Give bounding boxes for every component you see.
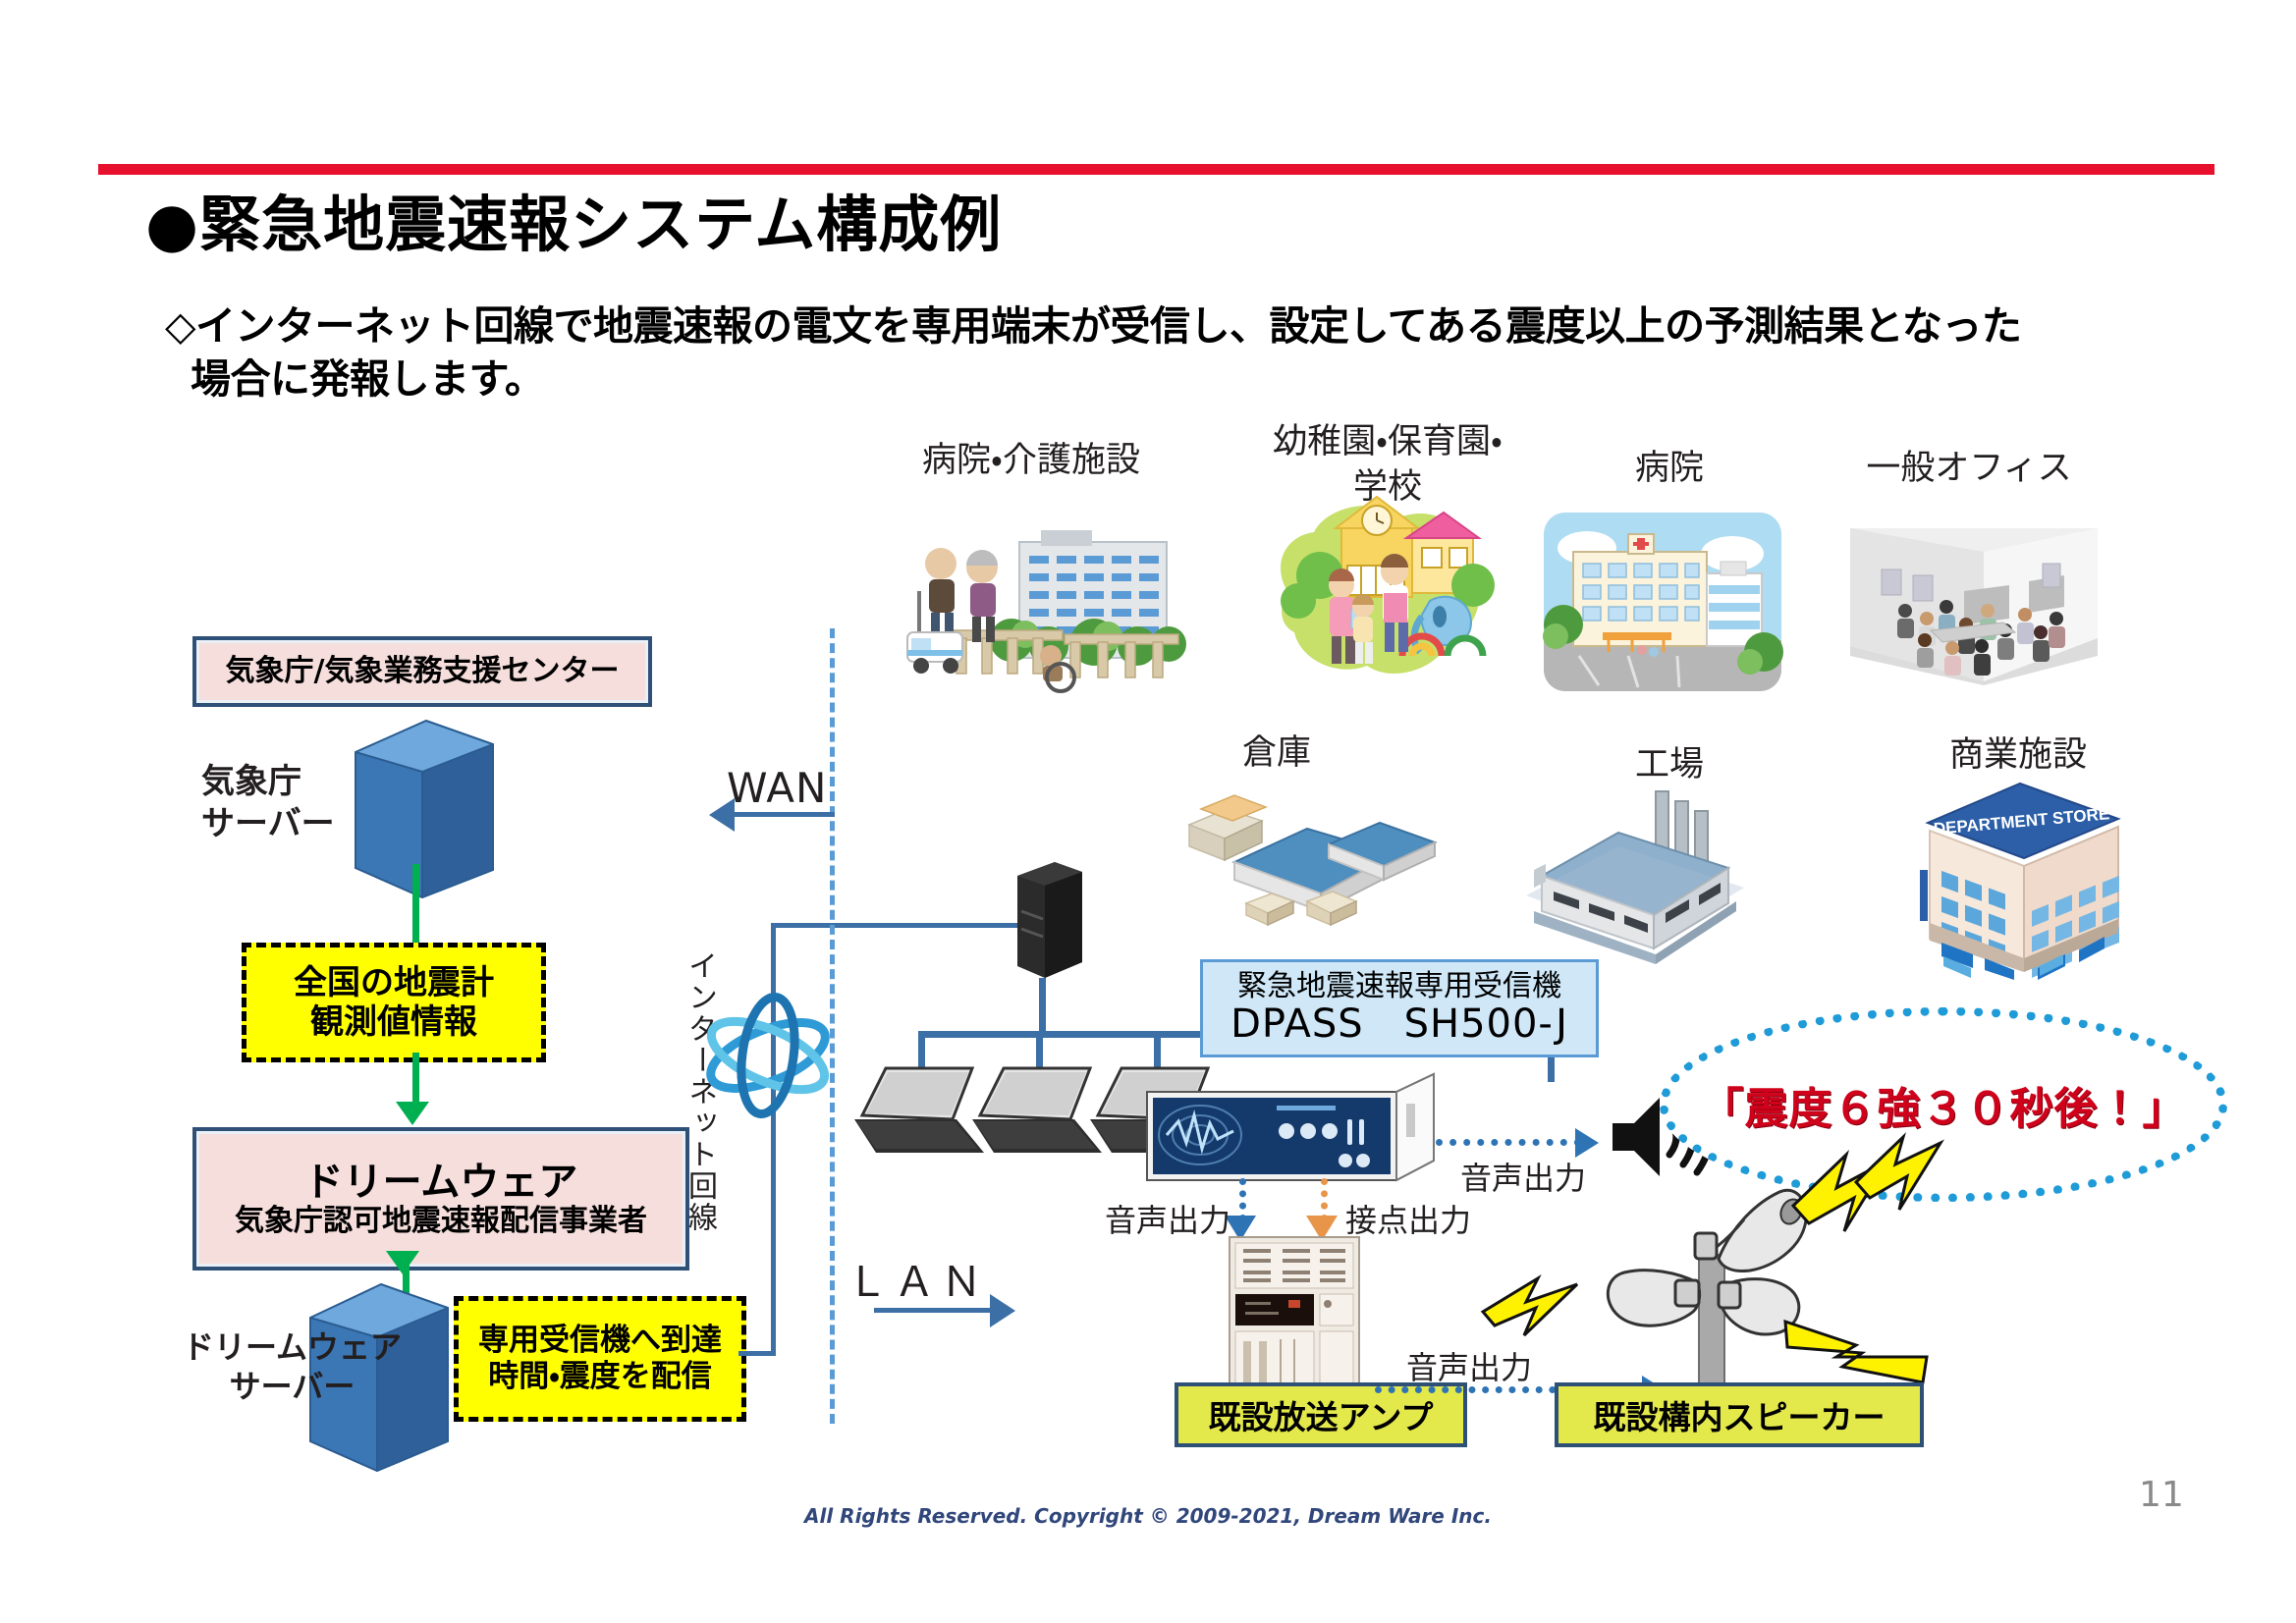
lightning-bolt-icon-2 [1479,1269,1597,1347]
page-subtitle: ◇インターネット回線で地震速報の電文を専用端末が受信し、設定してある震度以上の予… [165,299,2159,406]
network-switch-icon [1011,860,1088,980]
seismometer-info-line2: 観測値情報 [310,1002,477,1042]
jma-center-box-label: 気象庁/気象業務支援センター [226,655,620,688]
lan-riser-vertical [771,923,776,1355]
facility-label-factory: 工場 [1635,736,1704,786]
department-store-icon: DEPARTMENT STORE [1890,776,2146,982]
seismometer-info-box: 全国の地震計 観測値情報 [242,943,546,1062]
lightning-bolt-icon-3 [1779,1306,1946,1394]
facility-label-warehouse: 倉庫 [1242,725,1311,775]
lan-top-horizontal [771,923,1036,928]
existing-speaker-label: 既設構内スピーカー [1594,1391,1886,1438]
dreamware-provider-box: ドリームウェア 気象庁認可地震速報配信事業者 [192,1127,689,1271]
green-connector-2 [412,1053,419,1108]
switch-downlink [1039,978,1046,1033]
dreamware-provider-line1: ドリームウェア [304,1161,578,1205]
subtitle-line-2: 場合に発報します。 [165,352,2159,406]
delivery-info-line2: 時間・震度を配信 [488,1359,712,1395]
jma-server-label-line1: 気象庁 [201,761,335,803]
wan-label: WAN [727,764,827,812]
audio-output-bottom-label: 音声出力 [1406,1343,1532,1388]
facility-label-care-facility: 病院・介護施設 [922,432,1140,482]
care-facility-icon [902,522,1196,689]
header-accent-rule [98,164,2214,175]
jma-server-label-line2: サーバー [201,803,335,845]
audio-output-left-label: 音声出力 [1105,1196,1230,1241]
page-title: ●緊急地震速報システム構成例 [145,194,1002,255]
facility-label-hospital: 病院 [1635,440,1704,490]
jma-server-cube-shape [346,713,503,899]
warehouse-icon [1183,785,1439,933]
kindergarten-icon [1265,491,1501,697]
lan-arrow-head [990,1294,1015,1327]
page-number: 11 [2139,1475,2184,1515]
wan-arrow-line [732,812,835,817]
dpass-receiver-line2: DPASS SH500-J [1230,1002,1568,1047]
green-arrowhead-1 [396,1102,429,1125]
delivery-info-line1: 専用受信機へ到達 [478,1323,722,1359]
hospital-icon [1540,509,1785,695]
slide-canvas: ●緊急地震速報システム構成例 ◇インターネット回線で地震速報の電文を専用端末が受… [0,0,2296,1623]
wan-arrow-head [709,798,735,832]
facility-label-office: 一般オフィス [1866,440,2071,490]
dpass-receiver-line1: 緊急地震速報専用受信機 [1237,970,1561,1003]
lightning-bolt-icon-4 [1846,1129,1954,1217]
existing-speaker-label-box: 既設構内スピーカー [1555,1382,1924,1447]
dreamware-provider-line2: 気象庁認可地震速報配信事業者 [235,1205,647,1238]
dreamware-server-label: ドリームウェア サーバー [183,1327,402,1406]
office-icon [1836,509,2111,685]
alert-bubble-text: 「震度６強３０秒後！」 [1701,1073,2187,1136]
facility-label-kindergarten-line1: 幼稚園・保育園・ [1273,420,1503,465]
seismometer-info-line1: 全国の地震計 [294,963,494,1002]
internet-atom-icon [699,992,837,1119]
existing-amplifier-label: 既設放送アンプ [1209,1391,1434,1438]
jma-server-label: 気象庁 サーバー [201,761,335,844]
delivery-info-box: 専用受信機へ到達 時間・震度を配信 [454,1296,746,1422]
dpass-receiver-box: 緊急地震速報専用受信機 DPASS SH500-J [1200,959,1599,1057]
contact-output-label: 接点出力 [1345,1196,1471,1241]
footer-copyright: All Rights Reserved. Copyright © 2009-20… [0,1504,2296,1528]
audio-output-right-line [1436,1139,1581,1146]
green-arrowhead-2 [386,1251,419,1274]
lan-label: ＬＡＮ [847,1249,988,1309]
lan-arrow-line [874,1308,992,1313]
dreamware-server-label-line2: サーバー [183,1367,402,1406]
subtitle-line-1: ◇インターネット回線で地震速報の電文を専用端末が受信し、設定してある震度以上の予… [165,302,2021,350]
factory-icon [1512,785,1758,972]
dpass-receiver-device [1139,1070,1463,1193]
jma-server-cube [346,713,483,880]
green-connector-1 [412,864,419,952]
audio-output-right-label: 音声出力 [1460,1154,1586,1199]
facility-label-department-store: 商業施設 [1949,727,2087,777]
dreamware-server-label-line1: ドリームウェア [183,1327,402,1367]
jma-center-box: 気象庁/気象業務支援センター [192,636,652,707]
